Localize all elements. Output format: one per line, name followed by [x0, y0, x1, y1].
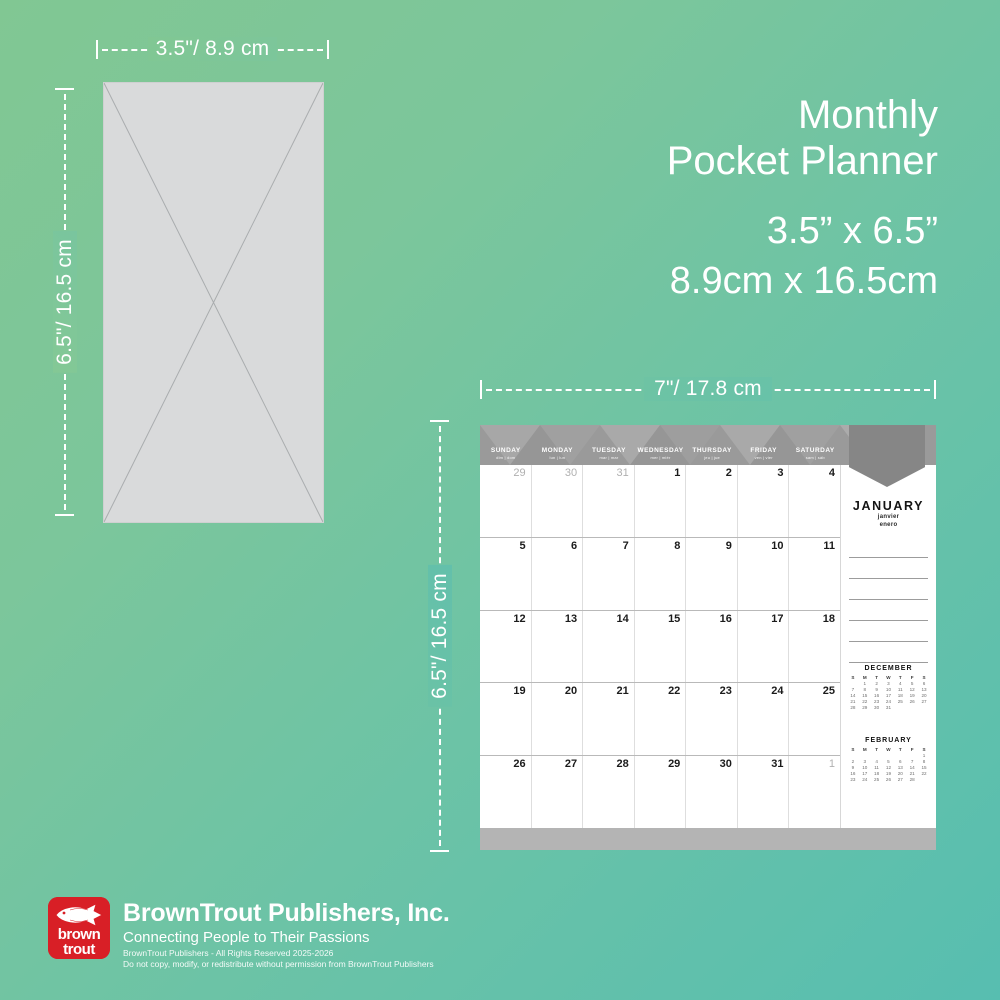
calendar-day-cell[interactable]: 10: [738, 538, 790, 610]
day-header-name: SATURDAY: [796, 447, 835, 455]
product-width-label: 3.5"/ 8.9 cm: [148, 37, 278, 61]
month-name-english: JANUARY: [841, 499, 936, 513]
calendar-day-cell[interactable]: 4: [789, 465, 840, 537]
calendar-day-cell[interactable]: 13: [532, 611, 584, 683]
calendar-day-cell[interactable]: 27: [532, 756, 584, 828]
mini-calendar-week: 28 29 30 31: [847, 705, 930, 711]
logo-word-top: brown: [48, 927, 110, 942]
mini-calendar-december: DECEMBER S M T W T F S: [847, 665, 930, 711]
calendar-day-cell[interactable]: 3: [738, 465, 790, 537]
day-number: 30: [565, 467, 577, 479]
calendar-day-cell[interactable]: 9: [686, 538, 738, 610]
day-number: 29: [513, 467, 525, 479]
calendar-page-preview: SUNDAY dim | dom MONDAY lun | lun TUESDA…: [480, 425, 936, 850]
calendar-day-cell[interactable]: 1: [635, 465, 687, 537]
day-header-thursday: THURSDAY jeu | jue: [686, 425, 738, 465]
day-number: 9: [726, 540, 732, 552]
calendar-day-cell[interactable]: 5: [480, 538, 532, 610]
mini-calendar-title: FEBRUARY: [847, 737, 930, 744]
mini-calendar-title: DECEMBER: [847, 665, 930, 672]
logo-wordmark: brown trout: [48, 927, 110, 958]
logo-word-bottom: trout: [48, 942, 110, 958]
day-number: 22: [668, 685, 680, 697]
calendar-day-cell[interactable]: 20: [532, 683, 584, 755]
product-size-inches: 3.5” x 6.5”: [667, 206, 938, 256]
note-line[interactable]: [849, 642, 928, 663]
day-number: 31: [771, 758, 783, 770]
calendar-day-cell[interactable]: 11: [789, 538, 840, 610]
day-number: 2: [726, 467, 732, 479]
day-header-name: THURSDAY: [692, 447, 732, 455]
calendar-day-cell[interactable]: 29: [480, 465, 532, 537]
day-number: 4: [829, 467, 835, 479]
calendar-day-cell[interactable]: 28: [583, 756, 635, 828]
mini-day: 31: [883, 705, 895, 711]
day-header-sublabel: mar | mar: [600, 455, 619, 461]
trout-fish-icon-svg: [52, 901, 106, 929]
mini-day: 27: [894, 777, 906, 783]
company-tagline: Connecting People to Their Passions: [123, 928, 450, 948]
mini-day: 26: [883, 777, 895, 783]
month-title-group: JANUARY janvier enero: [841, 499, 936, 529]
mini-calendar-grid: S M T W T F S: [847, 747, 930, 783]
day-number: 20: [565, 685, 577, 697]
day-number: 23: [720, 685, 732, 697]
placeholder-x-cross-icon: [104, 83, 323, 522]
note-line[interactable]: [849, 537, 928, 558]
mini-calendar-grid: S M T W T F S 1 2 3: [847, 675, 930, 711]
calendar-body: 29 30 31 1 2 3 4 5 6 7 8 9 10 11: [480, 465, 936, 828]
mini-day: 28: [847, 705, 859, 711]
calendar-height-label: 6.5"/ 16.5 cm: [428, 565, 452, 707]
mini-day: [894, 705, 906, 711]
mini-day: [906, 705, 918, 711]
calendar-day-cell[interactable]: 31: [738, 756, 790, 828]
mini-day: 24: [859, 777, 871, 783]
calendar-day-cell[interactable]: 30: [532, 465, 584, 537]
brand-text-block: BrownTrout Publishers, Inc. Connecting P…: [123, 897, 450, 970]
calendar-day-cell[interactable]: 22: [635, 683, 687, 755]
calendar-day-cell[interactable]: 21: [583, 683, 635, 755]
mini-calendar-week: 23 24 25 26 27 28: [847, 777, 930, 783]
calendar-height-dimension: 6.5"/ 16.5 cm: [425, 420, 455, 852]
product-size-group: 3.5” x 6.5” 8.9cm x 16.5cm: [667, 206, 938, 306]
mini-calendar-february: FEBRUARY S M T W T F S: [847, 737, 930, 783]
calendar-side-panel: JANUARY janvier enero DECEMBER: [841, 465, 936, 828]
calendar-week-row: 19 20 21 22 23 24 25: [480, 683, 840, 756]
poster-canvas: 3.5"/ 8.9 cm 6.5"/ 16.5 cm Monthly Pocke…: [0, 0, 1000, 1000]
day-header-sublabel: mer | miér: [651, 455, 671, 461]
day-number: 25: [823, 685, 835, 697]
day-number: 27: [565, 758, 577, 770]
mini-day: 30: [871, 705, 883, 711]
calendar-day-cell[interactable]: 29: [635, 756, 687, 828]
month-name-spanish: enero: [841, 521, 936, 529]
product-height-dimension: 6.5"/ 16.5 cm: [50, 88, 80, 516]
day-header-name: MONDAY: [542, 447, 573, 455]
day-number: 18: [823, 613, 835, 625]
day-number: 24: [771, 685, 783, 697]
day-number: 15: [668, 613, 680, 625]
calendar-width-dimension: 7"/ 17.8 cm: [480, 374, 936, 404]
day-header-sublabel: lun | lun: [549, 455, 565, 461]
day-header-name: SUNDAY: [491, 447, 521, 455]
day-header-sublabel: ven | vier: [755, 455, 773, 461]
product-title-line2: Pocket Planner: [667, 138, 938, 184]
day-number: 28: [616, 758, 628, 770]
calendar-week-row: 26 27 28 29 30 31 1: [480, 756, 840, 828]
month-tab-bookmark: [849, 425, 925, 487]
day-header-name: TUESDAY: [592, 447, 626, 455]
day-number: 19: [513, 685, 525, 697]
day-number: 21: [616, 685, 628, 697]
product-title-line1: Monthly: [667, 92, 938, 138]
day-header-tuesday: TUESDAY mar | mar: [583, 425, 635, 465]
calendar-width-label: 7"/ 17.8 cm: [644, 377, 772, 401]
day-number: 7: [623, 540, 629, 552]
copyright-line: BrownTrout Publishers - All Rights Reser…: [123, 948, 450, 959]
calendar-day-cell[interactable]: 2: [686, 465, 738, 537]
calendar-day-cell[interactable]: 18: [789, 611, 840, 683]
calendar-day-cell[interactable]: 25: [789, 683, 840, 755]
calendar-day-cell[interactable]: 6: [532, 538, 584, 610]
day-number: 30: [720, 758, 732, 770]
day-number: 16: [720, 613, 732, 625]
dimension-end-cap-right: [327, 40, 329, 59]
calendar-day-cell[interactable]: 14: [583, 611, 635, 683]
mini-day: [918, 705, 930, 711]
dimension-end-cap-top: [430, 420, 449, 422]
mini-day: 28: [906, 777, 918, 783]
day-number: 31: [616, 467, 628, 479]
day-header-sublabel: sam | sáb: [806, 455, 825, 461]
month-name-french: janvier: [841, 513, 936, 521]
day-header-sublabel: jeu | jue: [704, 455, 720, 461]
day-header-sunday: SUNDAY dim | dom: [480, 425, 532, 465]
mini-day: 25: [871, 777, 883, 783]
calendar-week-row: 29 30 31 1 2 3 4: [480, 465, 840, 538]
day-header-name: FRIDAY: [750, 447, 777, 455]
day-header-wednesday: WEDNESDAY mer | miér: [635, 425, 687, 465]
calendar-day-cell[interactable]: 19: [480, 683, 532, 755]
mini-day: 23: [847, 777, 859, 783]
mini-day: 29: [859, 705, 871, 711]
day-number: 1: [674, 467, 680, 479]
calendar-day-cell[interactable]: 7: [583, 538, 635, 610]
calendar-week-row: 12 13 14 15 16 17 18: [480, 611, 840, 684]
day-number: 26: [513, 758, 525, 770]
calendar-day-cell[interactable]: 31: [583, 465, 635, 537]
day-number: 14: [616, 613, 628, 625]
title-block: Monthly Pocket Planner 3.5” x 6.5” 8.9cm…: [667, 92, 938, 306]
product-size-metric: 8.9cm x 16.5cm: [667, 256, 938, 306]
product-width-dimension: 3.5"/ 8.9 cm: [96, 34, 329, 64]
note-line[interactable]: [849, 558, 928, 579]
day-number: 6: [571, 540, 577, 552]
browntrout-logo: brown trout: [48, 897, 110, 959]
calendar-day-cell[interactable]: 17: [738, 611, 790, 683]
product-placeholder-image: [103, 82, 324, 523]
day-number: 3: [777, 467, 783, 479]
calendar-day-cell[interactable]: 1: [789, 756, 840, 828]
calendar-footer-band: [480, 828, 936, 850]
day-header-sublabel: dim | dom: [496, 455, 515, 461]
dimension-end-cap-left: [480, 380, 482, 399]
note-line[interactable]: [849, 621, 928, 642]
day-header-monday: MONDAY lun | lun: [532, 425, 584, 465]
company-name: BrownTrout Publishers, Inc.: [123, 899, 450, 928]
product-height-label: 6.5"/ 16.5 cm: [53, 231, 77, 373]
calendar-day-cell[interactable]: 24: [738, 683, 790, 755]
calendar-day-cell[interactable]: 15: [635, 611, 687, 683]
day-number: 1: [829, 758, 835, 770]
day-number: 29: [668, 758, 680, 770]
notes-ruled-lines[interactable]: [849, 537, 928, 663]
trout-fish-icon: [52, 901, 106, 929]
day-number: 5: [519, 540, 525, 552]
brand-footer: brown trout BrownTrout Publishers, Inc. …: [48, 897, 450, 970]
dimension-end-cap-bottom: [55, 514, 74, 516]
calendar-day-cell[interactable]: 23: [686, 683, 738, 755]
calendar-week-row: 5 6 7 8 9 10 11: [480, 538, 840, 611]
note-line[interactable]: [849, 600, 928, 621]
day-number: 8: [674, 540, 680, 552]
day-number: 10: [771, 540, 783, 552]
calendar-day-cell[interactable]: 30: [686, 756, 738, 828]
day-header-saturday: SATURDAY sam | sáb: [789, 425, 841, 465]
dimension-end-cap-right: [934, 380, 936, 399]
dimension-end-cap-bottom: [430, 850, 449, 852]
day-header-friday: FRIDAY ven | vier: [738, 425, 790, 465]
calendar-day-cell[interactable]: 16: [686, 611, 738, 683]
calendar-day-cell[interactable]: 12: [480, 611, 532, 683]
usage-notice-line: Do not copy, modify, or redistribute wit…: [123, 959, 450, 970]
calendar-date-grid: 29 30 31 1 2 3 4 5 6 7 8 9 10 11: [480, 465, 841, 828]
day-header-name: WEDNESDAY: [637, 447, 683, 455]
dimension-end-cap-left: [96, 40, 98, 59]
calendar-day-cell[interactable]: 8: [635, 538, 687, 610]
mini-day: [918, 777, 930, 783]
day-number: 12: [513, 613, 525, 625]
dimension-end-cap-top: [55, 88, 74, 90]
day-number: 13: [565, 613, 577, 625]
day-number: 11: [823, 540, 835, 552]
calendar-day-cell[interactable]: 26: [480, 756, 532, 828]
note-line[interactable]: [849, 579, 928, 600]
day-number: 17: [771, 613, 783, 625]
